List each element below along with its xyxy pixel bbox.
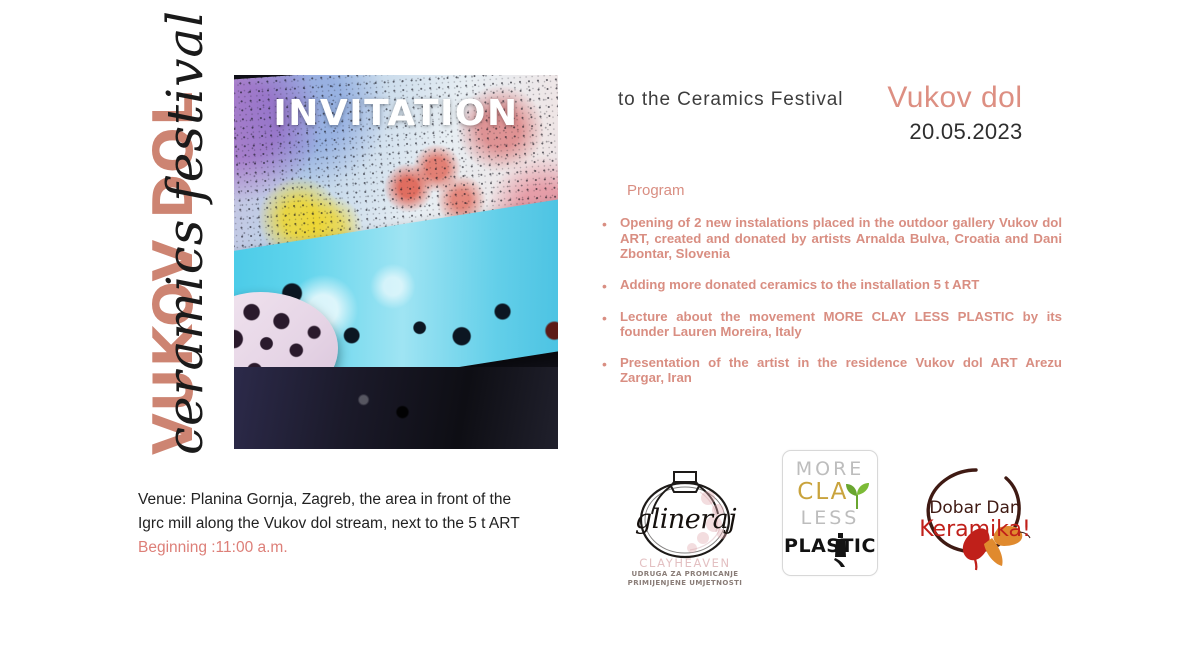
program-item-text: Presentation of the artist in the reside…: [620, 355, 1062, 386]
photo-layer-dark-base: [234, 367, 558, 449]
sponsor-logos: glineraj CLAYHEAVEN UDRUGA ZA PROMICANJE…: [600, 448, 1060, 588]
program-item-text: Opening of 2 new instalations placed in …: [620, 215, 1062, 262]
program-list-item: • Lecture about the movement MORE CLAY L…: [602, 309, 1062, 340]
glineraj-subtitle-line-1: UDRUGA ZA PROMICANJE: [610, 570, 760, 579]
plastic-bottle-icon: [833, 533, 848, 567]
ddk-line-keramika: Keramika!: [908, 517, 1042, 542]
program-list-item: • Presentation of the artist in the resi…: [602, 355, 1062, 386]
program-item-text: Adding more donated ceramics to the inst…: [620, 277, 1062, 294]
more-clay-less-plastic-logo: MORE CLAY LESS PLASTIC: [782, 450, 878, 576]
bullet-icon: •: [602, 355, 620, 386]
vertical-title-script: ceramics festival: [135, 65, 235, 455]
header-date: 20.05.2023: [887, 119, 1022, 145]
glineraj-wordmark: CLAYHEAVEN: [610, 556, 760, 570]
program-section: Program • Opening of 2 new instalations …: [602, 182, 1062, 401]
mclp-clay-letters: CLA: [797, 479, 846, 505]
invitation-poster: VUKOV DOL ceramics festival INVITATION t…: [0, 0, 1202, 662]
mclp-line-plastic: PLASTIC: [783, 535, 877, 557]
program-list-item: • Adding more donated ceramics to the in…: [602, 277, 1062, 294]
invitation-overlay-title: INVITATION: [234, 93, 558, 134]
bullet-icon: •: [602, 215, 620, 262]
mclp-line-clay: CLAY: [783, 479, 877, 505]
venue-beginning-time: Beginning :11:00 a.m.: [138, 536, 568, 560]
bullet-icon: •: [602, 309, 620, 340]
venue-block: Venue: Planina Gornja, Zagreb, the area …: [138, 488, 568, 560]
venue-line-2: Igrc mill along the Vukov dol stream, ne…: [138, 512, 568, 536]
program-item-text: Lecture about the movement MORE CLAY LES…: [620, 309, 1062, 340]
ceramics-photo: INVITATION: [234, 75, 558, 449]
glineraj-script-text: glineraj: [618, 504, 753, 535]
mclp-line-less: LESS: [783, 507, 877, 529]
ddk-line-dobar-dan: Dobar Dan: [908, 498, 1042, 518]
plant-sprout-icon: [844, 482, 870, 510]
program-list-item: • Opening of 2 new instalations placed i…: [602, 215, 1062, 262]
vertical-festival-title: VUKOV DOL ceramics festival: [108, 60, 238, 460]
bullet-icon: •: [602, 277, 620, 294]
glineraj-subtitle-line-2: PRIMIJENJENE UMJETNOSTI: [610, 579, 760, 588]
header: to the Ceramics Festival Vukov dol 20.05…: [618, 82, 1088, 145]
venue-line-1: Venue: Planina Gornja, Zagreb, the area …: [138, 488, 568, 512]
header-place: Vukov dol: [887, 82, 1022, 114]
header-place-date: Vukov dol 20.05.2023: [887, 82, 1022, 145]
glineraj-logo: glineraj CLAYHEAVEN UDRUGA ZA PROMICANJE…: [610, 460, 760, 588]
header-lead-text: to the Ceramics Festival: [618, 82, 843, 111]
glineraj-subtitle: UDRUGA ZA PROMICANJE PRIMIJENJENE UMJETN…: [610, 570, 760, 587]
dobar-dan-keramika-logo: Dobar Dan Keramika!: [908, 454, 1042, 578]
mclp-line-more: MORE: [783, 458, 877, 480]
program-heading: Program: [627, 182, 1062, 199]
